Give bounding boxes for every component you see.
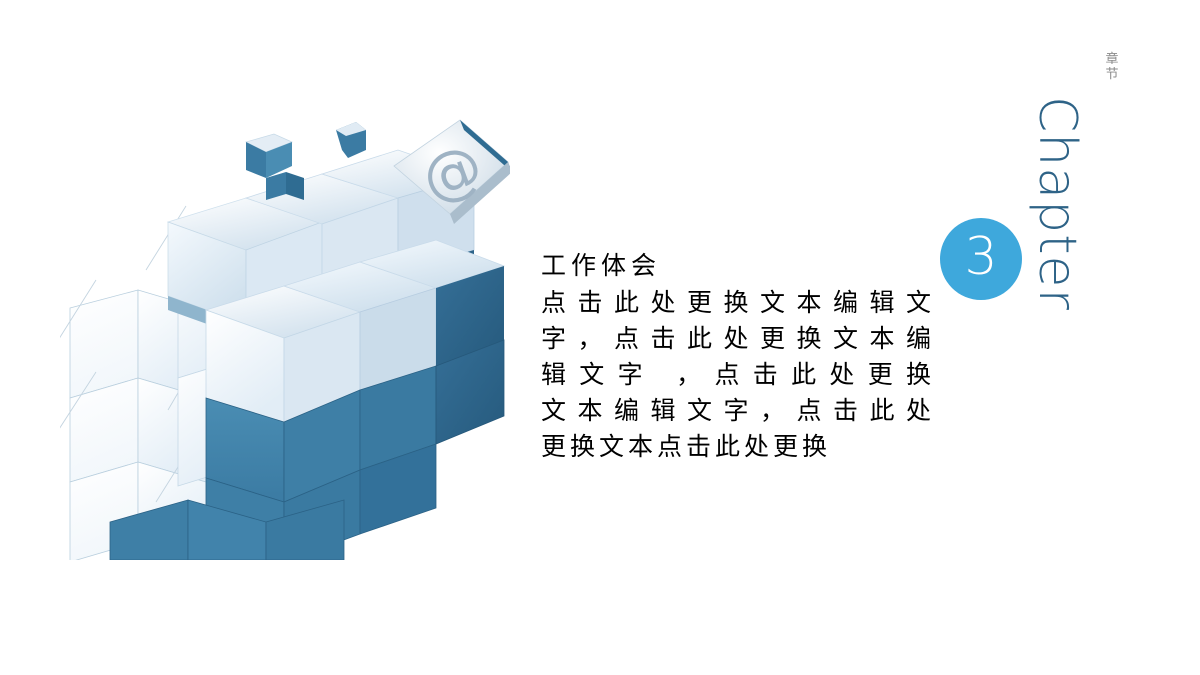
chapter-number: 3 (964, 231, 997, 283)
floating-piece-chevron (336, 122, 366, 158)
body-text-block: 工作体会 点击此处更换文本编辑文 字，点击此处更换文本编 辑文字 ，点击此处更换… (541, 248, 931, 465)
floating-piece-small (246, 134, 304, 200)
slide-canvas: @ 工作体会 点击此处更换文本编辑文 字，点击此处更换文本编 辑文字 ，点击此处… (0, 0, 1200, 675)
body-line-2: 字，点击此处更换文本编 (541, 321, 931, 357)
chapter-cn-char-2: 节 (1103, 67, 1121, 82)
body-line-1: 点击此处更换文本编辑文 (541, 285, 931, 321)
isometric-cube-illustration: @ (60, 110, 510, 560)
section-title: 工作体会 (541, 248, 931, 285)
chapter-cn-label: 章 节 (1103, 52, 1121, 82)
body-line-5: 更换文本点击此处更换 (541, 429, 931, 465)
chapter-cn-char-1: 章 (1103, 52, 1121, 67)
body-line-3: 辑文字 ，点击此处更换 (541, 357, 931, 393)
body-line-4: 文本编辑文字，点击此处 (541, 393, 931, 429)
chapter-word-vertical: Chapter (1031, 96, 1083, 311)
chapter-number-badge: 3 (940, 218, 1022, 300)
